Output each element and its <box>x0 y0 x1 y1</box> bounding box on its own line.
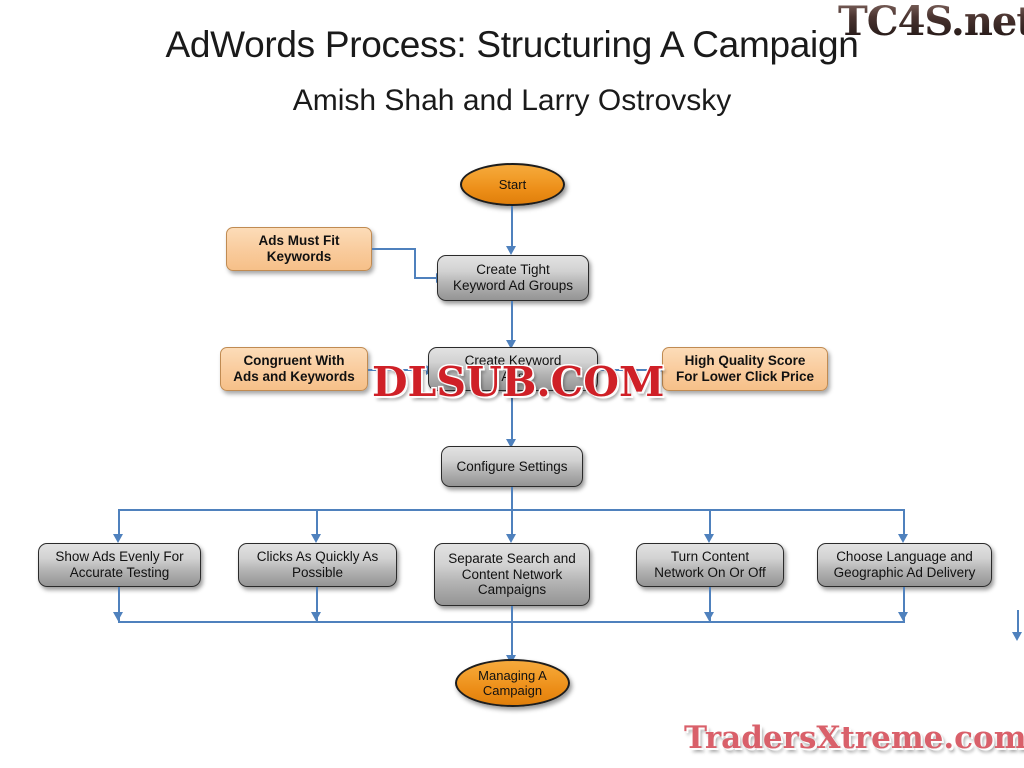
flow-node-turn-content-line1: Turn Content <box>671 549 749 565</box>
arrowhead-rise-1 <box>113 612 123 621</box>
flow-node-show-ads-evenly[interactable]: Show Ads Evenly For Accurate Testing <box>38 543 201 587</box>
connector-drop-4 <box>709 509 711 536</box>
flow-node-create-tight-keyword-ad-groups-line1: Create Tight <box>476 262 550 278</box>
arrowhead-drop-2 <box>311 534 321 543</box>
connector-annot1-seg-h2 <box>414 277 438 279</box>
connector-drop-2 <box>316 509 318 536</box>
flow-node-clicks-line1: Clicks As Quickly As <box>257 549 379 565</box>
arrowhead-rise-5 <box>898 612 908 621</box>
flow-node-show-ads-evenly-line1: Show Ads Evenly For <box>55 549 183 565</box>
flow-node-clicks-line2: Possible <box>292 565 343 581</box>
flow-node-start[interactable]: Start <box>460 163 565 206</box>
flow-node-turn-content-line2: Network On Or Off <box>654 565 766 581</box>
annotation-ads-must-fit-keywords-line2: Keywords <box>267 249 332 265</box>
connector-center-to-end <box>511 606 513 660</box>
annotation-congruent-line2: Ads and Keywords <box>233 369 355 385</box>
annotation-ads-must-fit-keywords-line1: Ads Must Fit <box>259 233 340 249</box>
flow-node-choose-language-line2: Geographic Ad Delivery <box>834 565 976 581</box>
arrowhead-rise-2 <box>311 612 321 621</box>
flow-node-managing-a-campaign[interactable]: Managing A Campaign <box>455 659 570 707</box>
connector-drop-5 <box>903 509 905 536</box>
flow-node-separate-search-and-content-network-campaigns[interactable]: Separate Search and Content Network Camp… <box>434 543 590 606</box>
arrowhead-drop-3 <box>506 534 516 543</box>
connector-drop-3 <box>511 509 513 536</box>
flow-node-separate-line3: Campaigns <box>478 582 546 598</box>
annotation-ads-must-fit-keywords[interactable]: Ads Must Fit Keywords <box>226 227 372 271</box>
flow-node-clicks-as-quickly-as-possible[interactable]: Clicks As Quickly As Possible <box>238 543 397 587</box>
annotation-congruent-line1: Congruent With <box>243 353 344 369</box>
connector-settings-stem <box>511 487 513 511</box>
flow-node-start-label: Start <box>499 177 526 192</box>
arrowhead-start-to-adgroups <box>506 246 516 255</box>
arrowhead-drop-4 <box>704 534 714 543</box>
flow-node-managing-a-campaign-line1: Managing A <box>478 668 547 683</box>
arrowhead-drop-1 <box>113 534 123 543</box>
flow-node-create-tight-keyword-ad-groups[interactable]: Create Tight Keyword Ad Groups <box>437 255 589 301</box>
flow-node-separate-line2: Content Network <box>462 567 563 583</box>
connector-start-to-adgroups <box>511 206 513 248</box>
annotation-high-quality-score[interactable]: High Quality Score For Lower Click Price <box>662 347 828 391</box>
flow-node-choose-language-and-geographic-ad-delivery[interactable]: Choose Language and Geographic Ad Delive… <box>817 543 992 587</box>
arrowhead-stray-right-edge <box>1012 632 1022 641</box>
watermark-tc4s: TC4S.net <box>838 0 1024 45</box>
connector-annot1-seg-v <box>414 248 416 279</box>
connector-drop-1 <box>118 509 120 536</box>
annotation-high-quality-score-line2: For Lower Click Price <box>676 369 814 385</box>
arrowhead-rise-4 <box>704 612 714 621</box>
flow-node-separate-line1: Separate Search and <box>448 551 576 567</box>
flow-node-managing-a-campaign-line2: Campaign <box>483 683 542 698</box>
flow-node-create-tight-keyword-ad-groups-line2: Keyword Ad Groups <box>453 278 573 294</box>
connector-annot1-seg-h1 <box>372 248 416 250</box>
watermark-tradersxtreme: TradersXtreme.com <box>684 720 1024 756</box>
flow-node-choose-language-line1: Choose Language and <box>836 549 973 565</box>
flow-node-configure-settings-label: Configure Settings <box>456 459 567 475</box>
page-subtitle: Amish Shah and Larry Ostrovsky <box>0 84 1024 118</box>
connector-adgroups-to-keywordads <box>511 301 513 342</box>
annotation-congruent-with-ads-and-keywords[interactable]: Congruent With Ads and Keywords <box>220 347 368 391</box>
flow-node-turn-content-network-on-or-off[interactable]: Turn Content Network On Or Off <box>636 543 784 587</box>
annotation-high-quality-score-line1: High Quality Score <box>685 353 806 369</box>
flow-node-show-ads-evenly-line2: Accurate Testing <box>70 565 170 581</box>
watermark-dlsub: DLSUB.COM <box>372 358 664 406</box>
flow-node-configure-settings[interactable]: Configure Settings <box>441 446 583 487</box>
slide-canvas: AdWords Process: Structuring A Campaign … <box>0 0 1024 768</box>
arrowhead-drop-5 <box>898 534 908 543</box>
